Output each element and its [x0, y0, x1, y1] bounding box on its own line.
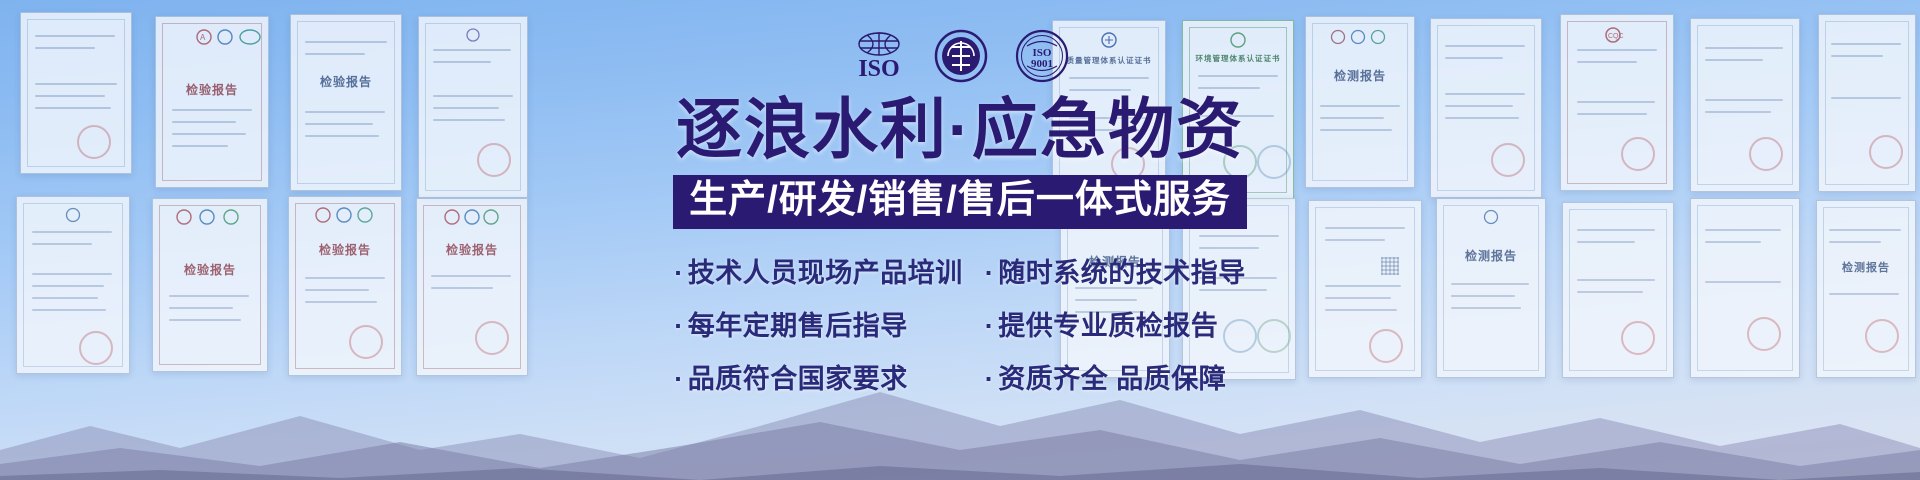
hero-content: ISO ISO 9001: [0, 0, 1920, 480]
bullet-dot: ·: [985, 258, 995, 288]
banner-title: 逐浪水利·应急物资: [676, 96, 1244, 162]
feature-item: ·资质齐全 品质保障: [985, 357, 1246, 396]
feature-item: ·每年定期售后指导: [674, 304, 963, 343]
feature-item: ·品质符合国家要求: [674, 357, 963, 396]
bullet-dot: ·: [674, 364, 684, 394]
iso-badge: ISO: [850, 30, 908, 87]
feature-label: 技术人员现场产品培训: [688, 258, 963, 288]
cqc-badge-sub: 9001: [1031, 58, 1053, 70]
feature-list: ·技术人员现场产品培训 ·随时系统的技术指导 ·每年定期售后指导 ·提供专业质检…: [674, 251, 1246, 396]
feature-label: 资质齐全 品质保障: [998, 364, 1226, 394]
feature-label: 品质符合国家要求: [688, 364, 908, 394]
feature-item: ·提供专业质检报告: [985, 304, 1246, 343]
bullet-dot: ·: [985, 311, 995, 341]
feature-label: 每年定期售后指导: [688, 311, 908, 341]
bullet-dot: ·: [674, 311, 684, 341]
feature-item: ·技术人员现场产品培训: [674, 251, 963, 290]
promo-banner: A 检验报告 检验报告: [0, 0, 1920, 480]
bullet-dot: ·: [985, 364, 995, 394]
feature-item: ·随时系统的技术指导: [985, 251, 1246, 290]
banner-subtitle: 生产/研发/销售/售后一体式服务: [673, 175, 1247, 229]
feature-label: 随时系统的技术指导: [998, 258, 1246, 288]
certification-badges: ISO ISO 9001: [850, 30, 1070, 86]
iso-badge-label: ISO: [858, 56, 899, 82]
bullet-dot: ·: [674, 258, 684, 288]
quality-seal-badge: [934, 29, 988, 88]
feature-label: 提供专业质检报告: [998, 311, 1218, 341]
cqc-iso9001-badge: ISO 9001: [1014, 29, 1070, 88]
